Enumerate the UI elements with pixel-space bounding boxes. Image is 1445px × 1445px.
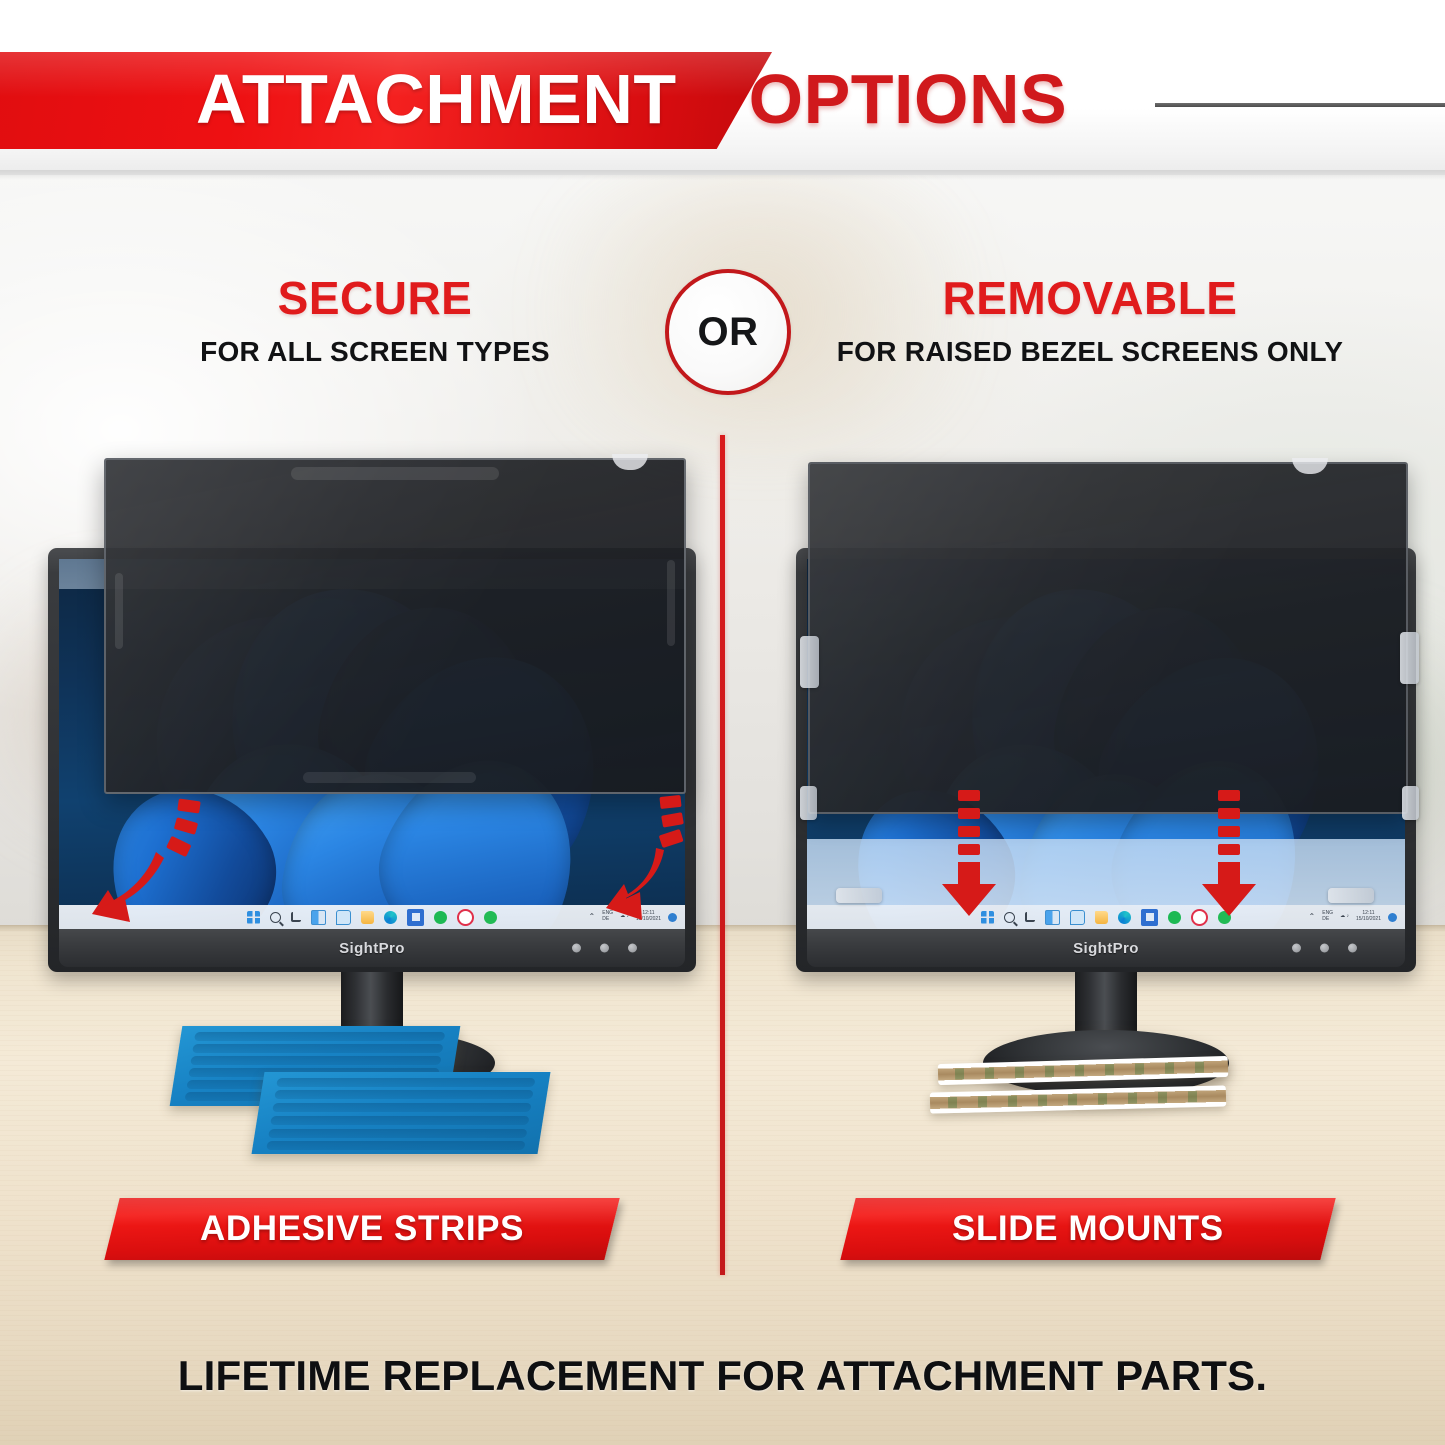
section-heading-removable: REMOVABLE FOR RAISED BEZEL SCREENS ONLY [790,275,1390,366]
search-icon[interactable] [270,912,281,923]
privacy-filter-left-bottom-notch [303,772,476,783]
microsoft-store-icon[interactable] [1141,909,1158,926]
section-subtitle-removable: FOR RAISED BEZEL SCREENS ONLY [790,338,1390,366]
header-bar: ATTACHMENT OPTIONS [0,0,1445,175]
header-rule-line [1155,103,1445,107]
privacy-filter-right-gloss [810,464,1406,812]
slide-mount-clip-top-right[interactable] [1400,632,1419,684]
green-app-icon-2[interactable] [484,911,497,924]
page-title-part2: OPTIONS [749,64,1068,134]
banner-adhesive-strips: ADHESIVE STRIPS [104,1198,619,1260]
tray-notification-icon[interactable] [1388,913,1397,922]
red-app-icon[interactable] [457,909,474,926]
or-badge-label: OR [698,310,759,355]
chat-icon[interactable] [336,910,351,925]
slide-mount-clip-chin-left[interactable] [836,888,882,903]
monitor-right-buttons[interactable] [1292,944,1357,953]
section-subtitle-secure: FOR ALL SCREEN TYPES [90,338,660,366]
privacy-filter-left-tab-right [667,560,675,646]
monitor-left-chin: SightPro [59,929,685,967]
search-icon[interactable] [1004,912,1015,923]
taskbar-icon-group [247,909,497,926]
privacy-filter-left[interactable] [104,458,686,794]
peel-arrow-right-of-left-monitor [568,788,698,928]
page-title-part1: ATTACHMENT [196,64,677,134]
microsoft-store-icon[interactable] [407,909,424,926]
chat-icon[interactable] [1070,910,1085,925]
section-title-secure: SECURE [90,275,660,321]
edge-browser-icon[interactable] [1118,911,1131,924]
widgets-icon[interactable] [1045,910,1060,925]
taskbar-icon-group-right [981,909,1231,926]
green-app-icon[interactable] [1168,911,1181,924]
tray-clock[interactable]: 12:1115/10/2021 [1356,911,1381,923]
vertical-divider [720,435,725,1275]
file-explorer-icon[interactable] [361,911,374,924]
page-title: ATTACHMENT OPTIONS [0,46,1445,151]
green-app-icon[interactable] [434,911,447,924]
footer-tagline: LIFETIME REPLACEMENT FOR ATTACHMENT PART… [0,1352,1445,1400]
section-title-removable: REMOVABLE [790,275,1390,321]
peel-arrow-left [90,790,260,930]
adhesive-strip-sheet-front[interactable] [252,1072,551,1154]
taskbar-right: ⌃ ENGDE ☁ ♪ 12:1115/10/2021 [807,905,1405,929]
privacy-filter-right[interactable] [808,462,1408,814]
slide-mount-clip-bottom-left[interactable] [800,786,817,820]
privacy-filter-left-gloss [106,460,684,792]
taskbar-tray-right: ⌃ ENGDE ☁ ♪ 12:1115/10/2021 [1309,911,1397,923]
screen-light-band-right [807,839,1405,905]
slide-arrow-left [938,788,1000,918]
slide-mount-clip-chin-right[interactable] [1328,888,1374,903]
banner-adhesive-label: ADHESIVE STRIPS [200,1209,524,1249]
privacy-filter-left-tab-left [115,573,123,649]
banner-slide-label: SLIDE MOUNTS [952,1209,1224,1249]
privacy-filter-left-top-notch [291,467,499,480]
or-badge: OR [665,269,791,395]
slide-mount-clip-bottom-right[interactable] [1402,786,1419,820]
edge-browser-icon[interactable] [384,911,397,924]
banner-slide-mounts: SLIDE MOUNTS [840,1198,1335,1260]
monitor-left-buttons[interactable] [572,944,637,953]
tray-language[interactable]: ENGDE [1322,911,1333,923]
infographic-canvas: ATTACHMENT OPTIONS SECURE FOR ALL SCREEN… [0,0,1445,1445]
tray-chevron-icon[interactable]: ⌃ [1309,912,1316,921]
slide-mount-clip-top-left[interactable] [800,636,819,688]
monitor-right-chin: SightPro [807,929,1405,967]
slide-arrow-right [1198,788,1260,918]
header-bottom-shadow [0,170,1445,180]
file-explorer-icon[interactable] [1095,911,1108,924]
section-heading-secure: SECURE FOR ALL SCREEN TYPES [90,275,660,366]
tray-network-volume-icon[interactable]: ☁ ♪ [1340,914,1349,920]
task-view-icon[interactable] [291,912,301,922]
monitor-left-brand: SightPro [339,940,405,957]
monitor-right-brand: SightPro [1073,940,1139,957]
task-view-icon[interactable] [1025,912,1035,922]
widgets-icon[interactable] [311,910,326,925]
